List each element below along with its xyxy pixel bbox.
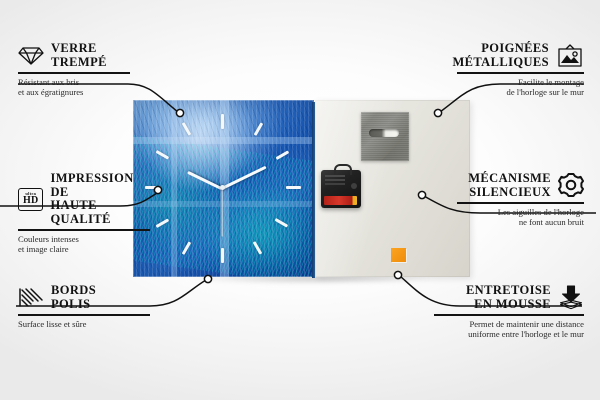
picture-frame-hanger-icon xyxy=(556,44,584,68)
second-hand xyxy=(221,189,222,237)
foam-spacer-arrow-icon xyxy=(558,285,584,310)
mechanism-label-lines xyxy=(325,175,345,177)
callout-verre-trempe[interactable]: VERRE TREMPÉ Résistant aux bris et aux é… xyxy=(18,42,130,98)
callout-subtitle: Résistant aux bris et aux égratignures xyxy=(18,77,130,98)
callout-subtitle: Permet de maintenir une distance uniform… xyxy=(434,319,584,340)
callout-entretoise-en-mousse[interactable]: ENTRETOISE EN MOUSSE Permet de maintenir… xyxy=(434,284,584,340)
callout-title: IMPRESSION DE HAUTE QUALITÉ xyxy=(50,172,150,226)
callout-title: POIGNÉES MÉTALLIQUES xyxy=(452,42,549,69)
callout-header: ultra HD IMPRESSION DE HAUTE QUALITÉ xyxy=(18,172,150,226)
callout-rule xyxy=(18,72,130,74)
diamond-icon xyxy=(18,45,44,66)
callout-header: VERRE TREMPÉ xyxy=(18,42,130,69)
ultra-hd-icon: ultra HD xyxy=(18,188,43,211)
callout-title: MÉCANISME SILENCIEUX xyxy=(468,172,551,199)
clock-mechanism xyxy=(321,170,361,208)
mechanism-hook xyxy=(334,164,352,175)
callout-header: POIGNÉES MÉTALLIQUES xyxy=(457,42,584,69)
callout-rule xyxy=(457,72,584,74)
callout-title: BORDS POLIS xyxy=(51,284,96,311)
callout-header: MÉCANISME SILENCIEUX xyxy=(457,172,584,199)
callout-header: BORDS POLIS xyxy=(18,284,150,311)
glass-thickness-edge xyxy=(312,102,315,278)
callout-subtitle: Facilite le montage de l'horloge sur le … xyxy=(457,77,584,98)
callout-mecanisme-silencieux[interactable]: MÉCANISME SILENCIEUX Les aiguilles de l'… xyxy=(457,172,584,228)
gear-icon xyxy=(558,173,584,198)
product-image xyxy=(133,100,470,280)
infographic-canvas: VERRE TREMPÉ Résistant aux bris et aux é… xyxy=(0,0,600,400)
foam-spacer xyxy=(391,248,406,262)
hanger-keyhole-slot xyxy=(369,129,399,137)
callout-rule xyxy=(18,229,150,231)
callout-title: VERRE TREMPÉ xyxy=(51,42,107,69)
callout-rule xyxy=(18,314,150,316)
callout-bords-polis[interactable]: BORDS POLIS Surface lisse et sûre xyxy=(18,284,150,329)
callout-impression-haute-qualite[interactable]: ultra HD IMPRESSION DE HAUTE QUALITÉ Cou… xyxy=(18,172,150,255)
hour-marker xyxy=(286,186,301,189)
callout-header: ENTRETOISE EN MOUSSE xyxy=(434,284,584,311)
callout-subtitle: Les aiguilles de l'horloge ne font aucun… xyxy=(457,207,584,228)
hands-hub xyxy=(220,185,225,190)
callout-poignees-metalliques[interactable]: POIGNÉES MÉTALLIQUES Facilite le montage… xyxy=(457,42,584,98)
ultra-hd-icon-main-text: HD xyxy=(23,196,38,206)
callout-rule xyxy=(434,314,584,316)
hour-marker xyxy=(221,114,224,129)
callout-subtitle: Couleurs intenses et image claire xyxy=(18,234,150,255)
mechanism-dial xyxy=(351,183,357,189)
battery xyxy=(324,196,357,205)
callout-subtitle: Surface lisse et sûre xyxy=(18,319,150,330)
callout-rule xyxy=(457,202,584,204)
callout-title: ENTRETOISE EN MOUSSE xyxy=(466,284,551,311)
hour-marker xyxy=(221,248,224,263)
polished-edges-icon xyxy=(18,287,44,308)
metal-hanger-plate xyxy=(361,112,409,161)
